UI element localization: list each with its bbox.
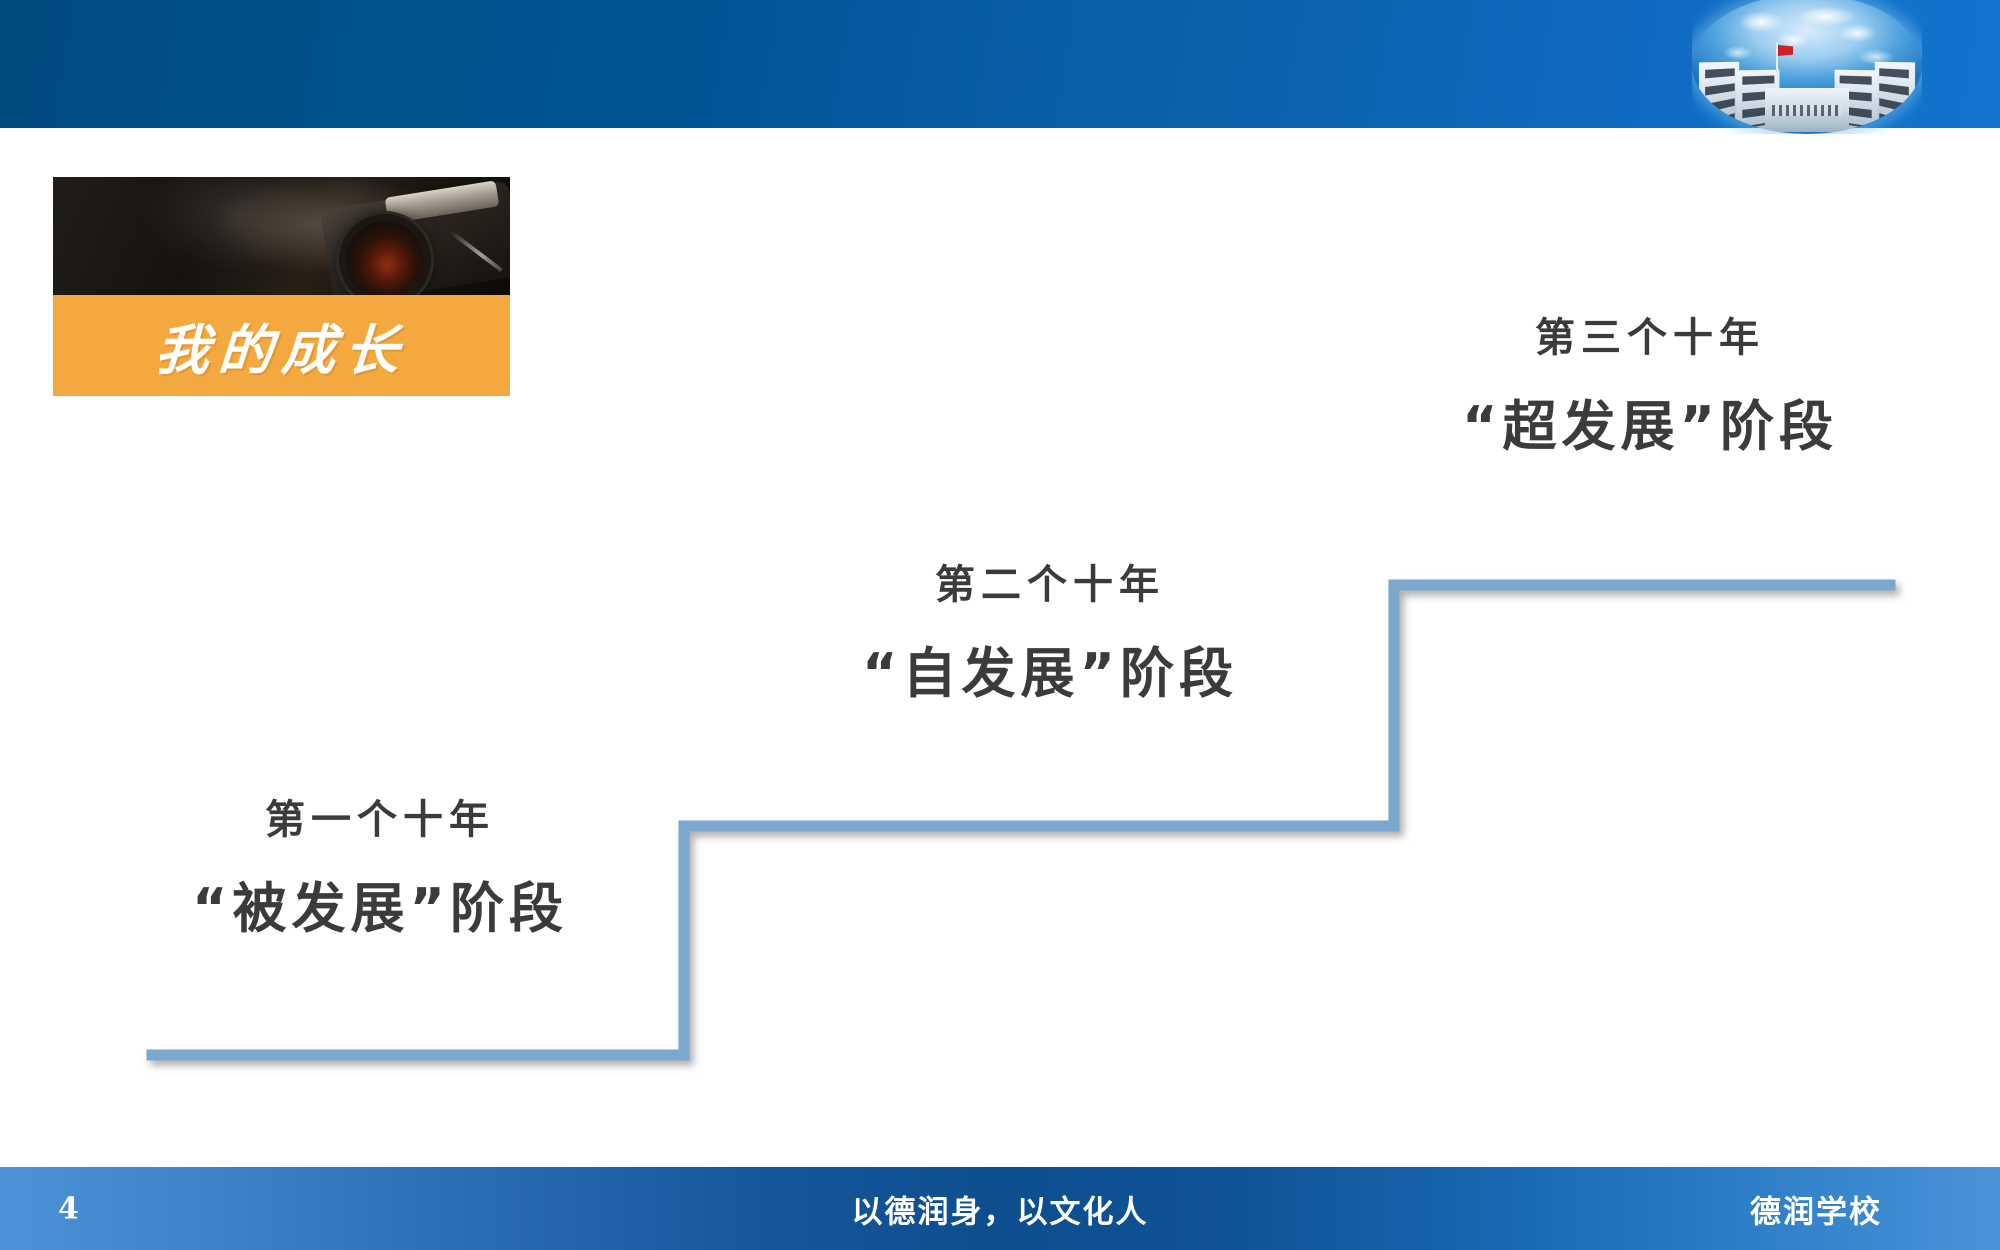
flagpole-icon [1776, 42, 1778, 94]
step1-phase: “被发展”阶段 [110, 882, 650, 936]
footer-school-name: 德润学校 [1750, 1186, 1882, 1231]
header-bar [0, 0, 2000, 128]
title-card: 我的成长 [53, 177, 510, 396]
camera-photo [53, 177, 510, 295]
step3-phase: “超发展”阶段 [1380, 400, 1920, 454]
footer-motto: 以德润身，以文化人 [852, 1186, 1149, 1231]
step3-heading: 第三个十年 [1380, 318, 1920, 358]
school-building-logo [1692, 0, 1922, 134]
building-center [1765, 88, 1849, 132]
logo-oval [1692, 0, 1922, 134]
flag-icon [1778, 45, 1793, 56]
page-number: 4 [58, 1191, 79, 1226]
step-label-second-decade: 第二个十年 “自发展”阶段 [780, 565, 1320, 701]
title-band: 我的成长 [53, 295, 510, 396]
step2-phase: “自发展”阶段 [780, 647, 1320, 701]
step2-heading: 第二个十年 [780, 565, 1320, 605]
step-label-third-decade: 第三个十年 “超发展”阶段 [1380, 318, 1920, 454]
building-right-far [1875, 62, 1915, 134]
page-title: 我的成长 [153, 306, 411, 385]
step-label-first-decade: 第一个十年 “被发展”阶段 [110, 800, 650, 936]
footer-bar: 4 以德润身，以文化人 德润学校 [0, 1167, 2000, 1250]
building-left-far [1699, 62, 1739, 134]
step1-heading: 第一个十年 [110, 800, 650, 840]
slide: 我的成长 第一个十年 “被发展”阶段 第二个十年 “自发展”阶段 第三个十年 “… [0, 0, 2000, 1250]
